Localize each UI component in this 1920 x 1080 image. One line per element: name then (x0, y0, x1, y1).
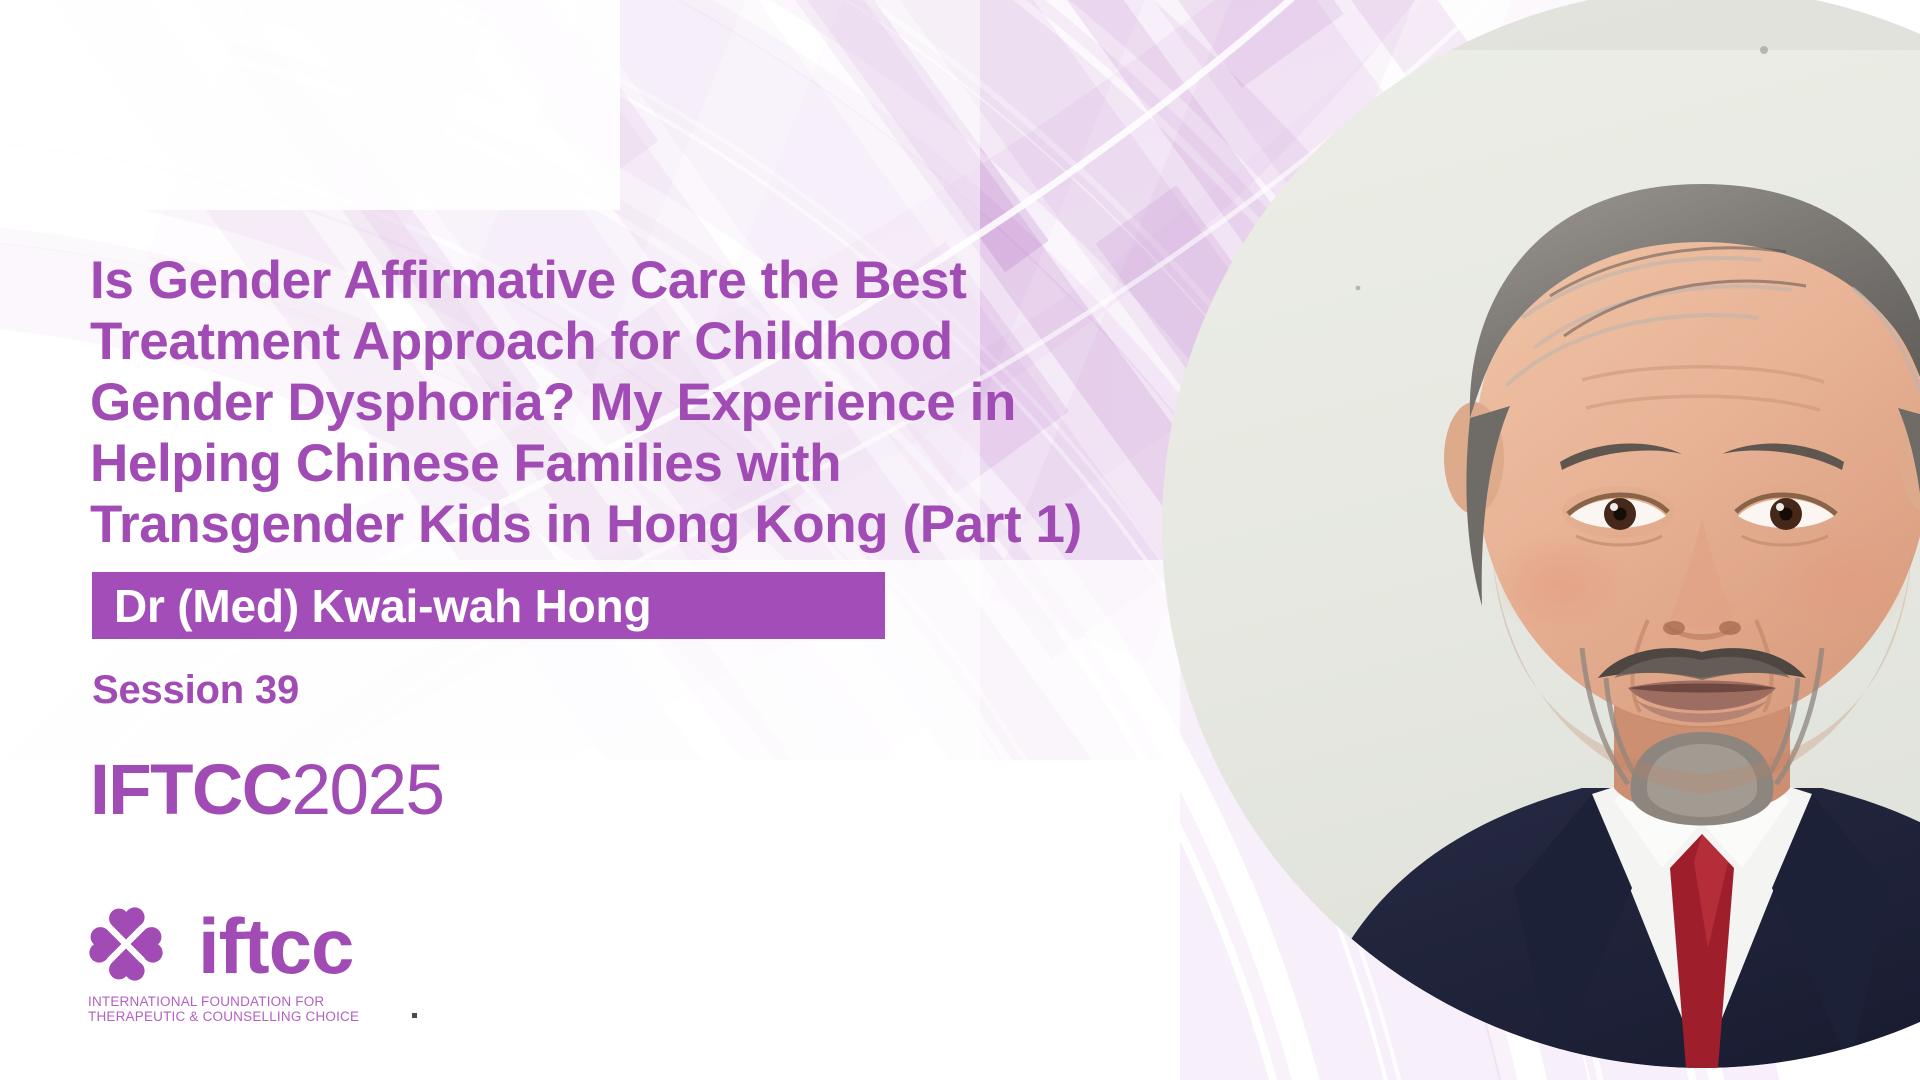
iftcc-petal-x-icon (88, 903, 164, 985)
event-acronym: IFTCC (90, 751, 292, 830)
event-year: 2025 (292, 751, 444, 830)
logo-row: iftcc (88, 900, 508, 988)
page-title: Is Gender Affirmative Care the Best Trea… (90, 250, 1090, 555)
iftcc-tagline: INTERNATIONAL FOUNDATION FOR THERAPEUTIC… (88, 994, 508, 1024)
slide-content: Is Gender Affirmative Care the Best Trea… (0, 0, 1100, 1080)
iftcc-logo: iftcc INTERNATIONAL FOUNDATION FOR THERA… (88, 900, 508, 1024)
speaker-name: Dr (Med) Kwai-wah Hong (92, 579, 651, 633)
image-speck-artifact (412, 1013, 417, 1018)
session-title-slide: Is Gender Affirmative Care the Best Trea… (0, 0, 1920, 1080)
avatar (1162, 0, 1920, 1068)
portrait-illustration (1162, 0, 1920, 1068)
session-label: Session 39 (92, 668, 299, 713)
iftcc-wordmark: iftcc (198, 907, 353, 985)
speaker-name-bar: Dr (Med) Kwai-wah Hong (92, 572, 885, 639)
event-wordmark: IFTCC2025 (90, 750, 443, 831)
speaker-portrait (1162, 0, 1920, 1073)
